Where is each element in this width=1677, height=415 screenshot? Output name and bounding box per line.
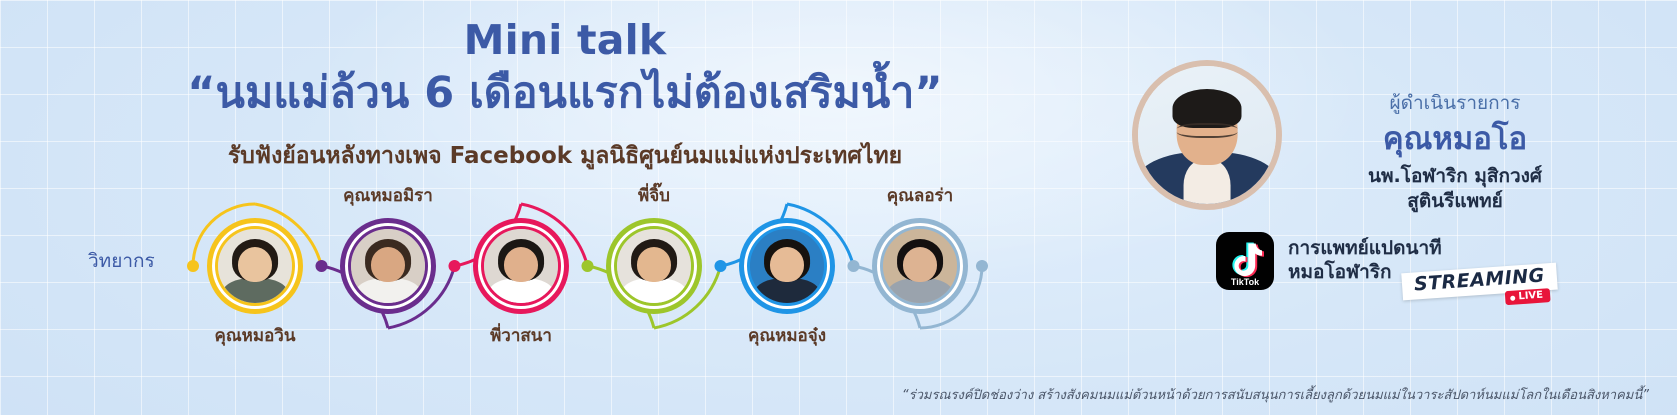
tiktok-wordmark: TikTok bbox=[1231, 277, 1260, 287]
page-subtitle: รับฟังย้อนหลังทางเพจ Facebook มูลนิธิศูน… bbox=[0, 138, 1130, 174]
tiktok-icon[interactable]: TikTok bbox=[1216, 232, 1274, 290]
host-role-label: ผู้ดำเนินรายการ bbox=[1290, 88, 1620, 118]
speaker-ring-inner bbox=[215, 226, 295, 306]
channel-line-1: การแพทย์แปดนาที bbox=[1288, 237, 1442, 261]
speaker-name-label: พี่จิ๊บ bbox=[554, 182, 754, 209]
speaker-portrait bbox=[484, 229, 558, 303]
page-title-en: Mini talk bbox=[0, 16, 1130, 64]
speaker-ring-inner bbox=[348, 226, 428, 306]
host-portrait bbox=[1138, 66, 1276, 204]
speaker-avatar-1: คุณหมอวิน bbox=[207, 218, 303, 314]
speaker-avatar-5: คุณหมอจุ๋ง bbox=[739, 218, 835, 314]
speaker-name-label: พี่วาสนา bbox=[421, 322, 621, 349]
speaker-portrait bbox=[617, 229, 691, 303]
live-dot-icon bbox=[1510, 295, 1515, 300]
speaker-portrait bbox=[218, 229, 292, 303]
tiktok-note-glyph: TikTok bbox=[1216, 232, 1274, 290]
host-nickname: คุณหมอโอ bbox=[1290, 121, 1620, 158]
speaker-ring-inner bbox=[880, 226, 960, 306]
speaker-portrait bbox=[351, 229, 425, 303]
page-title-th: “นมแม่ล้วน 6 เดือนแรกไม่ต้องเสริมน้ำ” bbox=[0, 66, 1130, 122]
host-specialty: สูตินรีแพทย์ bbox=[1290, 189, 1620, 214]
speaker-avatar-6: คุณลอร่า bbox=[872, 218, 968, 314]
speaker-ring-inner bbox=[747, 226, 827, 306]
speaker-name-label: คุณหมอวิน bbox=[155, 322, 355, 349]
host-avatar bbox=[1132, 60, 1282, 210]
speakers-section-label: วิทยากร bbox=[88, 246, 155, 276]
headline-block: Mini talk “นมแม่ล้วน 6 เดือนแรกไม่ต้องเส… bbox=[0, 16, 1130, 174]
speaker-ring-inner bbox=[614, 226, 694, 306]
glasses-icon bbox=[1177, 123, 1238, 138]
speaker-portrait bbox=[883, 229, 957, 303]
host-info: ผู้ดำเนินรายการ คุณหมอโอ นพ.โอฬาริก มุสิ… bbox=[1290, 88, 1620, 214]
host-fullname: นพ.โอฬาริก มุสิกวงศ์ bbox=[1290, 164, 1620, 189]
speaker-avatar-3: พี่วาสนา bbox=[473, 218, 569, 314]
live-label: LIVE bbox=[1518, 291, 1543, 303]
speaker-name-label: คุณหมอจุ๋ง bbox=[687, 322, 887, 349]
footer-note: “ร่วมรณรงค์ปิดช่องว่าง สร้างสังคมนมแม่ต้… bbox=[902, 384, 1649, 405]
mini-talk-banner: Mini talk “นมแม่ล้วน 6 เดือนแรกไม่ต้องเส… bbox=[0, 0, 1677, 415]
speaker-avatar-2: คุณหมอมิรา bbox=[340, 218, 436, 314]
live-badge: LIVE bbox=[1505, 288, 1551, 305]
speaker-avatar-4: พี่จิ๊บ bbox=[606, 218, 702, 314]
speaker-ring-inner bbox=[481, 226, 561, 306]
speaker-name-label: คุณลอร่า bbox=[820, 182, 1020, 209]
speaker-portrait bbox=[750, 229, 824, 303]
speaker-name-label: คุณหมอมิรา bbox=[288, 182, 488, 209]
